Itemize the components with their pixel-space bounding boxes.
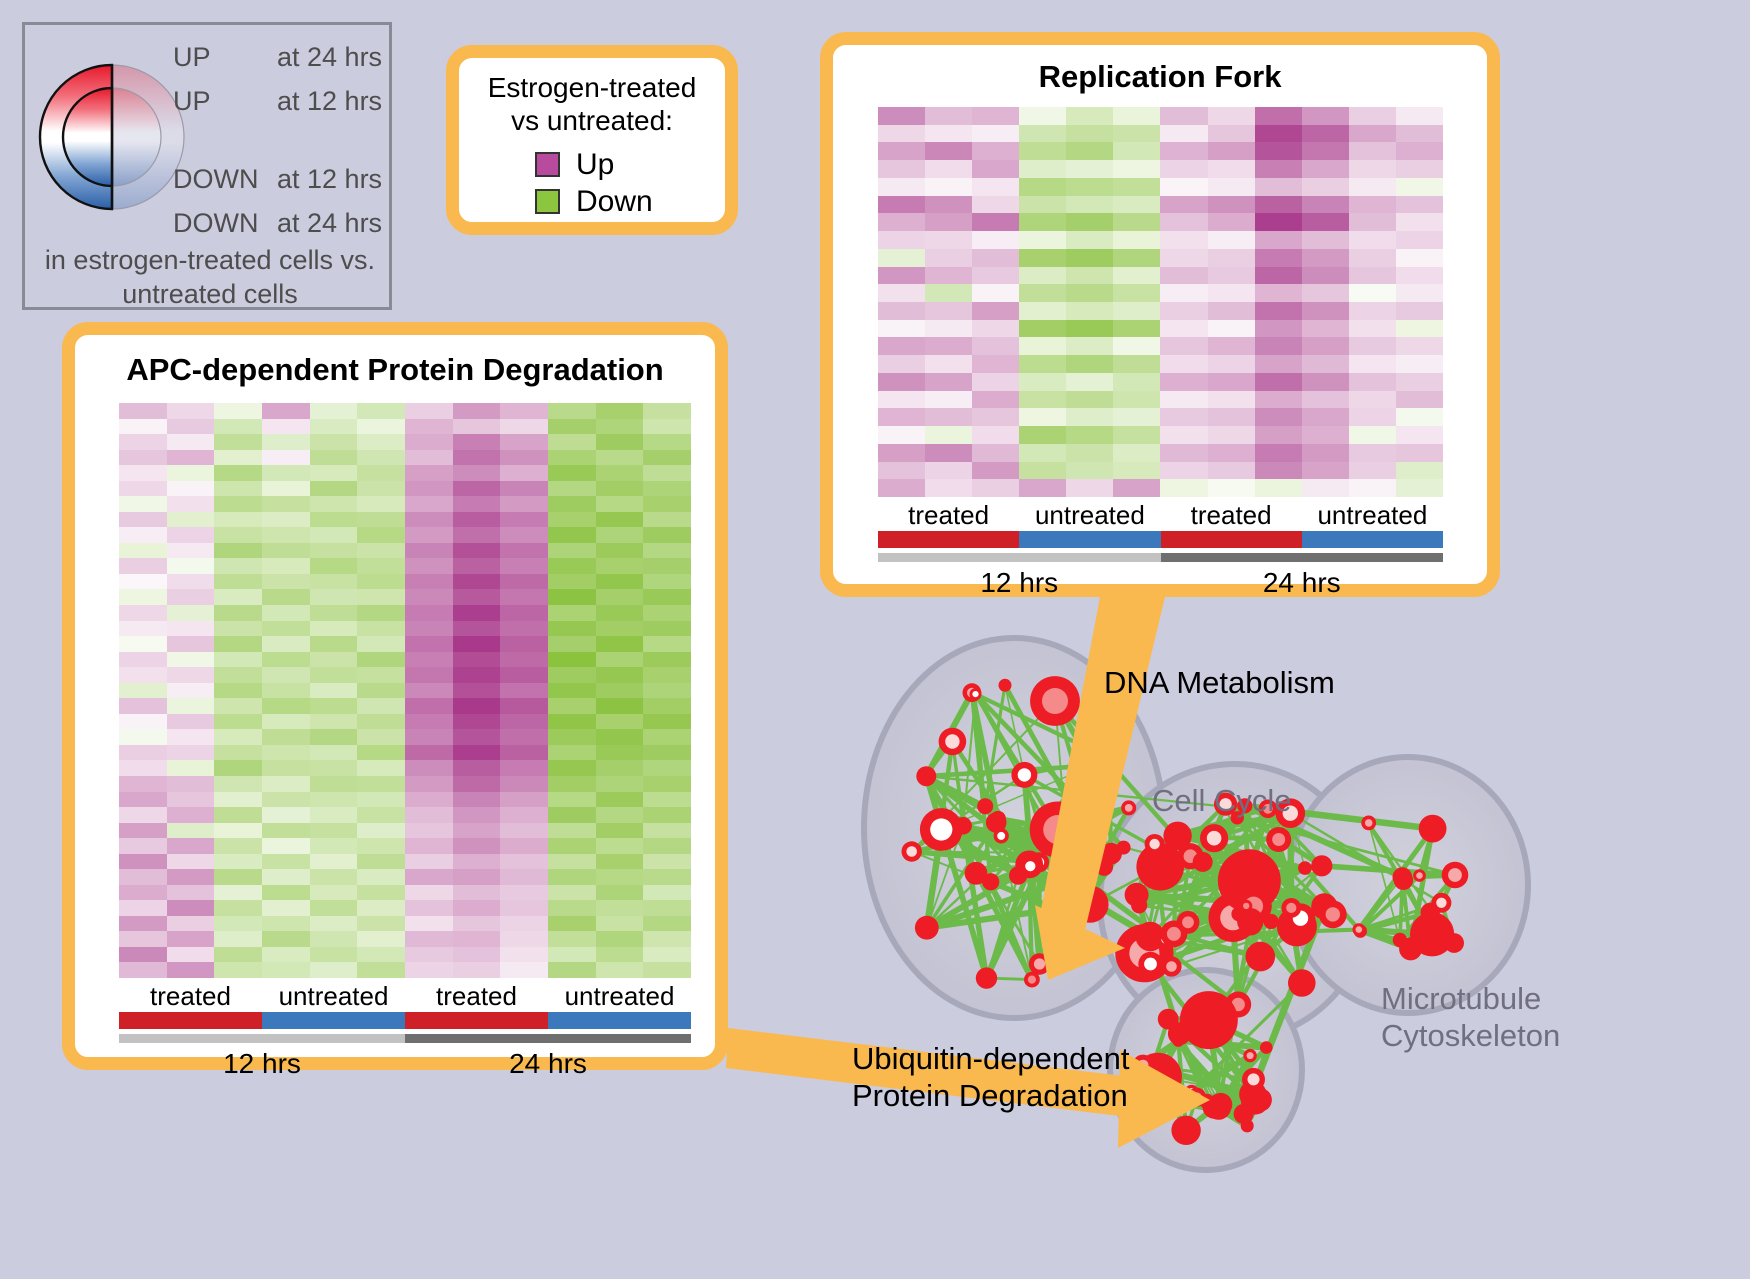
network-node[interactable] — [1419, 815, 1447, 843]
network-edge — [987, 866, 1031, 978]
heatmap-cell — [1208, 249, 1255, 267]
heatmap-cell — [643, 916, 691, 932]
heatmap-cell — [357, 465, 405, 481]
heatmap-cell — [1066, 160, 1113, 178]
network-edge — [1244, 1079, 1254, 1114]
network-node[interactable] — [1011, 762, 1037, 788]
network-edge — [985, 806, 1165, 939]
network-node[interactable] — [920, 808, 963, 851]
heatmap-cell — [167, 823, 215, 839]
heatmap-cell — [548, 807, 596, 823]
heatmap-cell — [119, 652, 167, 668]
network-node[interactable] — [1095, 858, 1113, 876]
network-edge — [912, 830, 942, 852]
heatmap-cell — [1208, 320, 1255, 338]
heatmap-cell — [1302, 125, 1349, 143]
heatmap-cell — [500, 792, 548, 808]
network-node[interactable] — [1030, 802, 1086, 858]
heatmap-cell — [1113, 426, 1160, 444]
network-node[interactable] — [1020, 856, 1040, 876]
network-edge — [1174, 835, 1260, 956]
network-node[interactable] — [1132, 1055, 1153, 1076]
heatmap-cell — [262, 916, 310, 932]
network-node[interactable] — [1161, 921, 1188, 948]
heatmap-cell — [596, 698, 644, 714]
heatmap-cell — [119, 450, 167, 466]
heatmap-cell — [167, 621, 215, 637]
network-node[interactable] — [1264, 914, 1279, 929]
network-edge — [1420, 829, 1433, 876]
heatmap-cell — [357, 823, 405, 839]
network-edge — [1040, 879, 1070, 964]
network-edge — [963, 826, 1124, 848]
network-node[interactable] — [982, 873, 999, 890]
network-node[interactable] — [939, 728, 967, 756]
network-node[interactable] — [1361, 816, 1376, 831]
heatmap-cell — [1066, 373, 1113, 391]
network-edge — [1203, 862, 1325, 906]
heatmap-cell — [310, 698, 358, 714]
network-edge — [1239, 906, 1254, 914]
network-edge — [1139, 868, 1305, 905]
network-edge — [1070, 867, 1104, 879]
heatmap-cell — [262, 652, 310, 668]
heatmap-cell — [453, 962, 501, 978]
heatmap-cell — [1066, 462, 1113, 480]
cluster-label-microtubule: Microtubule Cytoskeleton — [1381, 980, 1541, 1054]
heatmap-cell — [214, 403, 262, 419]
heatmap-cell — [1396, 213, 1443, 231]
heatmap-cell — [878, 479, 925, 497]
heatmap-cell — [453, 512, 501, 528]
network-node[interactable] — [1243, 1049, 1256, 1062]
network-edge — [976, 694, 1058, 830]
heatmap-cell — [453, 496, 501, 512]
network-edge — [991, 766, 1093, 882]
network-node[interactable] — [977, 798, 993, 814]
network-node[interactable] — [1163, 822, 1191, 850]
network-node[interactable] — [1281, 898, 1301, 918]
network-node[interactable] — [1319, 901, 1347, 929]
network-node[interactable] — [1099, 748, 1119, 768]
network-node[interactable] — [1132, 1086, 1153, 1107]
network-node[interactable] — [963, 683, 982, 702]
heatmap-cell — [1255, 302, 1302, 320]
network-node[interactable] — [1225, 992, 1251, 1018]
heatmap-cell — [405, 776, 453, 792]
network-node[interactable] — [1248, 1088, 1272, 1112]
heatmap-cell — [972, 142, 1019, 160]
heatmap-cell — [1349, 302, 1396, 320]
heatmap-cell — [453, 419, 501, 435]
network-node-core — [1018, 768, 1031, 781]
network-edge — [1192, 1092, 1248, 1126]
heatmap-cell — [878, 320, 925, 338]
network-node[interactable] — [1413, 869, 1426, 882]
heatmap-cell — [878, 142, 925, 160]
network-node[interactable] — [1117, 841, 1131, 855]
network-node[interactable] — [1131, 897, 1147, 913]
heatmap-cell — [357, 792, 405, 808]
network-node[interactable] — [1239, 1081, 1266, 1108]
network-node[interactable] — [1242, 1068, 1265, 1091]
heatmap-cell — [214, 667, 262, 683]
heatmap-cell — [1208, 267, 1255, 285]
network-edge — [1301, 906, 1325, 918]
heatmap-cell — [357, 683, 405, 699]
network-edge — [1209, 1020, 1254, 1079]
heatmap-cell — [1160, 462, 1207, 480]
network-edge — [1253, 1048, 1267, 1095]
heatmap-cell — [548, 527, 596, 543]
network-edge — [1137, 895, 1251, 921]
network-node-core — [1397, 872, 1407, 882]
network-node[interactable] — [1234, 1104, 1254, 1124]
network-node[interactable] — [976, 967, 997, 988]
heatmap-cell — [262, 419, 310, 435]
network-node[interactable] — [954, 817, 972, 835]
heatmap-cell — [1396, 284, 1443, 302]
network-edge — [1174, 835, 1253, 906]
network-node[interactable] — [1311, 893, 1337, 919]
network-edge — [1143, 1019, 1169, 1097]
network-node[interactable] — [1009, 866, 1027, 884]
network-node[interactable] — [1218, 849, 1281, 912]
network-node[interactable] — [1171, 1116, 1200, 1145]
network-node[interactable] — [1161, 956, 1181, 976]
network-node[interactable] — [1353, 923, 1366, 936]
heatmap-cell — [1255, 426, 1302, 444]
heatmap-cell — [310, 450, 358, 466]
heatmap-cell — [1349, 373, 1396, 391]
heatmap-cell — [500, 589, 548, 605]
heatmap-cell — [925, 373, 972, 391]
network-edge — [1237, 818, 1297, 927]
heatmap-cell — [1208, 355, 1255, 373]
network-node[interactable] — [1158, 932, 1173, 947]
heatmap-cell — [1255, 249, 1302, 267]
heatmap-cell — [1066, 479, 1113, 497]
heatmap-cell — [548, 450, 596, 466]
network-node[interactable] — [1203, 1096, 1226, 1119]
network-edge — [1143, 1097, 1255, 1101]
network-node[interactable] — [1029, 852, 1049, 872]
heatmap-cell — [643, 931, 691, 947]
network-edge — [1203, 862, 1302, 983]
group-label: untreated — [262, 981, 405, 1012]
network-node[interactable] — [1058, 867, 1082, 891]
heatmap-cell — [214, 807, 262, 823]
network-edge — [1188, 868, 1305, 922]
heatmap-cell — [878, 107, 925, 125]
heatmap-cell — [167, 792, 215, 808]
heatmap-cell — [310, 465, 358, 481]
network-node[interactable] — [999, 679, 1012, 692]
heatmap-cell — [596, 558, 644, 574]
network-node-core — [1129, 938, 1159, 968]
heatmap-cell — [1160, 355, 1207, 373]
network-node-core — [1207, 831, 1222, 846]
heatmap-cell — [1113, 142, 1160, 160]
network-node-core — [1244, 897, 1263, 916]
heatmap-cell — [972, 107, 1019, 125]
heatmap-cell — [214, 621, 262, 637]
network-edge — [1186, 1105, 1221, 1131]
heatmap-cell — [500, 527, 548, 543]
heatmap-cell — [643, 450, 691, 466]
heatmap-cell — [1302, 178, 1349, 196]
network-node[interactable] — [1393, 933, 1407, 947]
network-edge — [1158, 1041, 1178, 1077]
network-edge — [1158, 1077, 1192, 1092]
network-edge — [976, 819, 998, 874]
heatmap-cell — [500, 885, 548, 901]
network-edge — [1039, 830, 1058, 863]
network-edge — [1144, 914, 1238, 953]
network-node[interactable] — [986, 812, 1007, 833]
heatmap-cell — [214, 543, 262, 559]
network-node[interactable] — [1298, 861, 1312, 875]
network-node[interactable] — [1260, 1041, 1273, 1054]
network-node[interactable] — [1399, 937, 1422, 960]
network-node[interactable] — [1115, 924, 1173, 982]
network-node-core — [1220, 905, 1245, 930]
heatmap-cell — [1396, 107, 1443, 125]
network-node[interactable] — [1394, 871, 1413, 890]
network-node[interactable] — [1240, 900, 1252, 912]
network-node[interactable] — [1100, 843, 1122, 865]
cluster-label-ubiquitin: Ubiquitin-dependent Protein Degradation — [852, 1040, 1130, 1114]
network-node[interactable] — [1193, 852, 1213, 872]
heatmap-cell — [925, 196, 972, 214]
network-node[interactable] — [1239, 912, 1262, 935]
heatmap-cell — [1160, 267, 1207, 285]
heatmap-cell — [310, 636, 358, 652]
heatmap-cell — [596, 962, 644, 978]
heatmap-cell — [878, 355, 925, 373]
network-node[interactable] — [916, 766, 936, 786]
network-node[interactable] — [1206, 1095, 1231, 1120]
network-edge — [1400, 877, 1402, 940]
network-node[interactable] — [902, 841, 922, 861]
network-edge — [1029, 864, 1032, 979]
heatmap-cell — [262, 807, 310, 823]
network-node[interactable] — [1136, 922, 1165, 951]
heatmap-cell — [357, 776, 405, 792]
network-node[interactable] — [994, 828, 1009, 843]
network-edge — [1150, 922, 1271, 937]
network-node[interactable] — [1421, 903, 1440, 922]
arrow-apc-degradation-head — [1118, 1050, 1210, 1148]
heatmap-cell — [1255, 284, 1302, 302]
heatmap-cell — [643, 574, 691, 590]
heatmap-cell — [357, 434, 405, 450]
network-edge — [1209, 1020, 1255, 1100]
network-node[interactable] — [1199, 1094, 1214, 1109]
heatmap-cell — [596, 745, 644, 761]
timepoint-bar-row — [878, 553, 1443, 562]
network-node[interactable] — [1168, 1022, 1191, 1045]
heatmap-cell — [119, 729, 167, 745]
network-node[interactable] — [970, 688, 982, 700]
network-node[interactable] — [1029, 953, 1050, 974]
network-node-core — [972, 691, 978, 697]
timepoint-label: 12 hrs — [119, 1043, 405, 1080]
heatmap-cell — [1160, 231, 1207, 249]
network-node[interactable] — [915, 916, 939, 940]
network-node-core — [1232, 998, 1245, 1011]
heatmap-cell — [1019, 213, 1066, 231]
network-node[interactable] — [1177, 843, 1203, 869]
treatment-bar-row — [878, 531, 1443, 548]
heatmap-cell — [405, 792, 453, 808]
network-node[interactable] — [1071, 886, 1108, 923]
heatmap-cell — [1302, 444, 1349, 462]
heatmap-cell — [262, 698, 310, 714]
network-node[interactable] — [1231, 907, 1245, 921]
network-edge — [1233, 918, 1238, 1005]
network-node-core — [1208, 1101, 1220, 1113]
heatmap-cell — [1208, 444, 1255, 462]
network-node[interactable] — [965, 862, 988, 885]
network-edge — [1186, 1105, 1221, 1131]
network-edge — [1172, 914, 1333, 966]
heatmap-cell — [167, 403, 215, 419]
network-edge — [1360, 877, 1402, 931]
network-edge — [927, 758, 1109, 927]
heatmap-cell — [453, 527, 501, 543]
network-edge — [1064, 867, 1104, 913]
network-edge — [1403, 880, 1432, 934]
network-node[interactable] — [1121, 800, 1136, 815]
network-node[interactable] — [1311, 855, 1332, 876]
network-edge — [1244, 906, 1325, 1114]
network-node[interactable] — [1241, 1119, 1254, 1132]
heatmap-cell — [500, 854, 548, 870]
heatmap-cell — [167, 589, 215, 605]
network-node[interactable] — [1136, 843, 1184, 891]
network-node[interactable] — [1030, 676, 1080, 726]
heatmap-cell — [262, 450, 310, 466]
network-node[interactable] — [1125, 883, 1149, 907]
heatmap-cell — [405, 434, 453, 450]
heatmap-cell — [1208, 125, 1255, 143]
network-edge — [1219, 1107, 1244, 1114]
network-node[interactable] — [1288, 969, 1316, 997]
network-node[interactable] — [1138, 952, 1162, 976]
network-node[interactable] — [1410, 912, 1454, 956]
heatmap-cell — [596, 714, 644, 730]
heatmap-cell — [596, 652, 644, 668]
network-node[interactable] — [1134, 1053, 1182, 1101]
heatmap-cell — [925, 213, 972, 231]
network-edge — [1143, 1065, 1254, 1079]
network-edge — [912, 852, 1111, 854]
heatmap-cell — [1113, 462, 1160, 480]
network-edge — [1219, 1100, 1255, 1107]
heatmap-cell — [119, 916, 167, 932]
network-node[interactable] — [1442, 862, 1469, 889]
heatmap-cell — [405, 465, 453, 481]
network-node[interactable] — [1235, 888, 1271, 924]
heatmap-cell — [548, 636, 596, 652]
network-node[interactable] — [1266, 827, 1291, 852]
network-edge — [1032, 848, 1124, 980]
heatmap-cell — [596, 807, 644, 823]
network-node[interactable] — [1277, 906, 1317, 946]
network-node[interactable] — [1145, 834, 1165, 854]
network-node[interactable] — [1209, 893, 1258, 942]
network-node[interactable] — [1200, 824, 1228, 852]
network-node[interactable] — [1024, 972, 1040, 988]
colour-wheel-graphic — [37, 37, 187, 247]
network-edge — [1150, 921, 1250, 936]
network-edge — [1151, 906, 1325, 964]
heatmap-cell — [1396, 231, 1443, 249]
heatmap-cell — [453, 434, 501, 450]
heatmap-cell — [310, 403, 358, 419]
network-edge — [985, 685, 1005, 806]
network-node[interactable] — [1166, 827, 1182, 843]
network-node[interactable] — [1172, 1035, 1184, 1047]
heatmap-cell — [1160, 373, 1207, 391]
network-edge — [1214, 838, 1246, 906]
network-edge — [1070, 848, 1124, 880]
network-node[interactable] — [990, 811, 1006, 827]
network-node[interactable] — [1209, 1093, 1232, 1116]
network-node[interactable] — [1185, 1085, 1199, 1099]
network-edge — [1207, 1101, 1219, 1107]
network-node[interactable] — [1393, 867, 1413, 887]
network-node[interactable] — [1083, 756, 1103, 776]
network-node[interactable] — [1241, 1086, 1269, 1114]
network-node[interactable] — [1180, 991, 1238, 1049]
network-edge — [1139, 905, 1179, 1033]
heatmap-cell — [214, 574, 262, 590]
network-node-core — [1365, 819, 1373, 827]
network-node[interactable] — [1286, 903, 1316, 933]
heatmap-cell — [1066, 408, 1113, 426]
network-edge — [1155, 818, 1238, 844]
heatmap-cell — [1349, 391, 1396, 409]
cluster-ubiquitin — [1110, 970, 1302, 1170]
network-edge — [927, 879, 1070, 928]
heatmap-cell — [167, 496, 215, 512]
network-node[interactable] — [1158, 1009, 1179, 1030]
network-node[interactable] — [1015, 851, 1043, 879]
heatmap-cell — [405, 605, 453, 621]
heatmap-cell — [357, 636, 405, 652]
network-node[interactable] — [1246, 942, 1276, 972]
heatmap-cell — [925, 249, 972, 267]
network-node[interactable] — [1431, 893, 1451, 913]
network-node[interactable] — [1237, 908, 1263, 934]
heatmap-cell — [214, 776, 262, 792]
network-node[interactable] — [1056, 905, 1072, 921]
heatmap-cell — [453, 807, 501, 823]
heatmap-cell — [548, 605, 596, 621]
network-node[interactable] — [1187, 1088, 1206, 1107]
network-node[interactable] — [1444, 933, 1464, 953]
network-edge — [1420, 829, 1433, 876]
heatmap-cell — [1113, 337, 1160, 355]
heatmap-cell — [1160, 178, 1207, 196]
heatmap-cell — [596, 481, 644, 497]
network-edge — [1151, 964, 1253, 1094]
network-node[interactable] — [1354, 924, 1367, 937]
network-node[interactable] — [1177, 911, 1200, 934]
network-edge — [1058, 830, 1250, 881]
